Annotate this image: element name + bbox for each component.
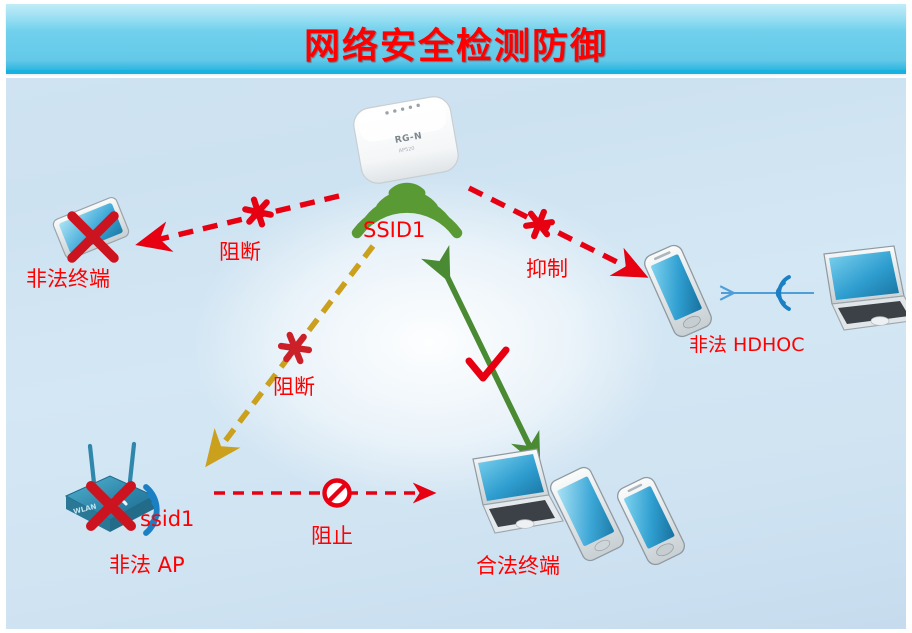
diagram-canvas: RG-N AP520 — [6, 78, 906, 629]
label-ssid1-upper: SSID1 — [363, 218, 425, 242]
connection-adhoc-link — [721, 277, 814, 309]
label-rogue-terminal: 非法终端 — [26, 263, 110, 293]
prohibition-sign-icon — [325, 481, 350, 506]
connection-allow-legit-terminals — [443, 268, 533, 453]
device-rogue-adhoc-phone[interactable] — [642, 243, 714, 340]
label-ssid1-lower: ssid1 — [140, 507, 194, 531]
page-title: 网络安全检测防御 — [6, 17, 906, 69]
device-rogue-adhoc-laptop[interactable] — [824, 246, 906, 330]
label-prohibit: 阻止 — [311, 520, 353, 550]
connection-block-rogue-ap — [216, 246, 373, 453]
device-central-ap[interactable]: RG-N AP520 — [351, 94, 461, 233]
connection-prohibit-rogue-ap-to-legit — [214, 481, 425, 506]
label-block-left: 阻断 — [219, 236, 261, 266]
red-asterisk-icon — [526, 212, 552, 236]
device-rogue-terminal[interactable] — [52, 196, 131, 260]
red-asterisk-icon — [245, 200, 270, 225]
label-legit-terminal: 合法终端 — [476, 550, 560, 580]
label-rogue-adhoc: 非法 HDHOC — [689, 330, 804, 357]
label-suppress: 抑制 — [526, 253, 568, 283]
title-bar: 网络安全检测防御 — [6, 4, 906, 74]
label-rogue-ap: 非法 AP — [109, 549, 185, 579]
diagram-root: 网络安全检测防御 — [0, 0, 912, 633]
connection-block-rogue-terminal — [152, 196, 339, 241]
label-block-lower: 阻断 — [273, 371, 315, 401]
red-asterisk-icon — [281, 335, 309, 361]
